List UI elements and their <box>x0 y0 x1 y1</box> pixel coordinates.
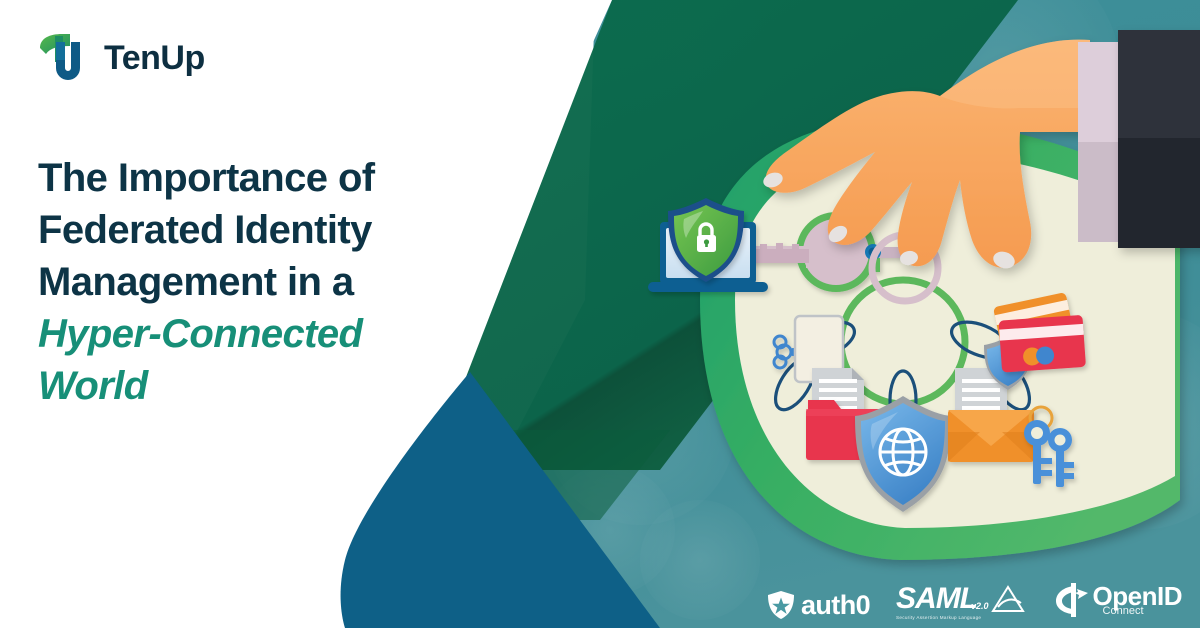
orange-envelope-icon <box>948 410 1034 462</box>
saml-subtitle: Security Assertion Markup Language <box>896 615 981 620</box>
brand-logo[interactable]: TenUp <box>36 30 205 86</box>
auth0-wordmark: auth0 <box>801 592 870 619</box>
auth0-shield-star-icon <box>766 590 796 620</box>
headline-line-1: The Importance of <box>38 152 468 204</box>
partner-logo-strip: auth0 SAML v2.0 Security Assertion Marku… <box>766 580 1182 620</box>
openid-connect-icon <box>1051 580 1091 620</box>
brand-wordmark: TenUp <box>104 41 205 75</box>
openid-subtitle: Connect <box>1103 606 1182 617</box>
saml-swirl-icon <box>991 585 1025 613</box>
suit-sleeve <box>1118 30 1200 248</box>
headline-line-5: World <box>38 360 468 412</box>
tenup-monogram-icon <box>36 30 92 86</box>
banner-canvas: TenUp The Importance of Federated Identi… <box>0 0 1200 628</box>
partner-logo-auth0[interactable]: auth0 <box>766 590 870 620</box>
saml-wordmark: SAML <box>896 584 977 614</box>
openid-text: OpenID Connect <box>1093 583 1182 617</box>
partner-logo-openid[interactable]: OpenID Connect <box>1051 580 1182 620</box>
saml-top-row: SAML v2.0 <box>896 584 1025 614</box>
headline-line-3: Management in a <box>38 256 468 308</box>
shirt-cuff <box>1078 42 1120 242</box>
headline-line-4: Hyper-Connected <box>38 308 468 360</box>
page-title: The Importance of Federated Identity Man… <box>38 152 468 412</box>
partner-logo-saml[interactable]: SAML v2.0 Security Assertion Markup Lang… <box>896 584 1025 620</box>
saml-version: v2.0 <box>971 601 989 611</box>
headline-line-2: Federated Identity <box>38 204 468 256</box>
